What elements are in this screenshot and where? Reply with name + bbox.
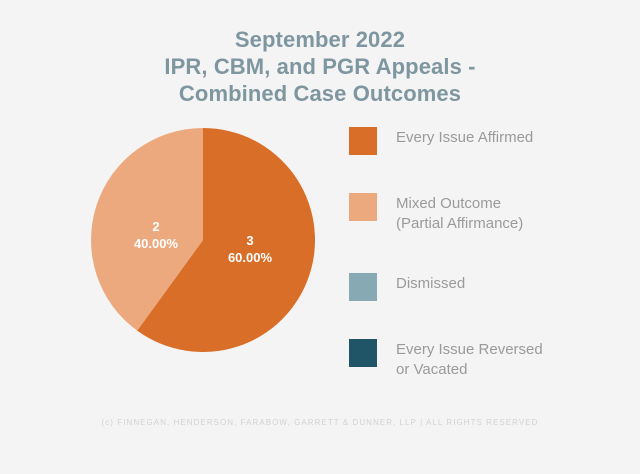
legend-item-dismissed[interactable]: Dismissed	[349, 272, 629, 300]
legend-item-mixed-outcome[interactable]: Mixed Outcome (Partial Affirmance)	[349, 192, 629, 234]
legend-item-label: Every Issue Reversed or Vacated	[396, 338, 629, 380]
page-title: September 2022 IPR, CBM, and PGR Appeals…	[0, 26, 640, 107]
legend-swatch-icon	[349, 273, 377, 301]
pie-chart: 2 40.00% 3 60.00%	[91, 128, 315, 352]
title-line-3: Combined Case Outcomes	[0, 80, 640, 107]
title-line-1: September 2022	[0, 26, 640, 53]
legend-swatch-icon	[349, 127, 377, 155]
title-line-2: IPR, CBM, and PGR Appeals -	[0, 53, 640, 80]
chart-legend: Every Issue Affirmed Mixed Outcome (Part…	[349, 126, 629, 380]
slice-percent: 60.00%	[185, 249, 315, 266]
chart-canvas: September 2022 IPR, CBM, and PGR Appeals…	[0, 0, 640, 474]
legend-item-every-issue-affirmed[interactable]: Every Issue Affirmed	[349, 126, 629, 154]
legend-swatch-icon	[349, 339, 377, 367]
legend-swatch-icon	[349, 193, 377, 221]
legend-item-label: Mixed Outcome (Partial Affirmance)	[396, 192, 629, 234]
slice-value: 3	[185, 232, 315, 249]
legend-item-label: Dismissed	[396, 272, 629, 294]
legend-item-label: Every Issue Affirmed	[396, 126, 629, 148]
legend-item-every-issue-reversed[interactable]: Every Issue Reversed or Vacated	[349, 338, 629, 380]
slice-label-every-issue-affirmed: 3 60.00%	[185, 232, 315, 266]
copyright-footer: (c) FINNEGAN, HENDERSON, FARABOW, GARRET…	[0, 418, 640, 427]
